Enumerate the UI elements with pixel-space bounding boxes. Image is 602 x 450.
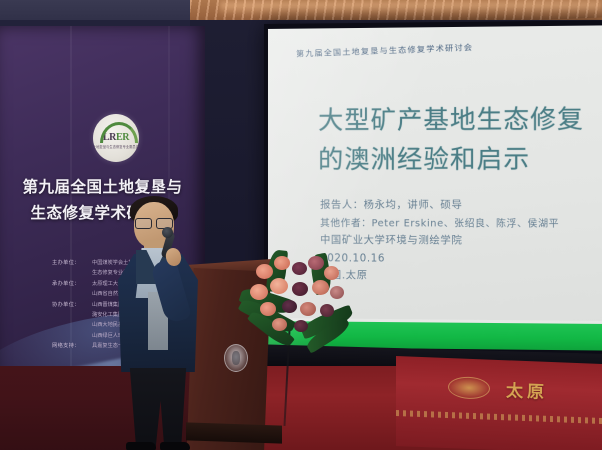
speaker-trousers xyxy=(126,368,190,450)
flower xyxy=(308,256,324,270)
flower xyxy=(272,318,287,331)
slide-header: 第九届全国土地复垦与生态修复学术研讨会 xyxy=(296,38,582,60)
slide-meta-location: 中国.太原 xyxy=(320,267,602,286)
flower xyxy=(260,302,276,316)
flower xyxy=(320,304,334,317)
flower xyxy=(250,284,268,300)
slide-meta-coauthors: 其他作者：Peter Erskine、张绍良、陈浮、侯湖平 xyxy=(320,215,602,233)
sponsor-key: 网络支持： xyxy=(52,341,86,351)
table-characters: 太原 xyxy=(506,376,548,403)
flower xyxy=(270,278,288,294)
speaker-shoe-left xyxy=(126,442,156,450)
table-trim xyxy=(396,410,602,424)
microphone-head-icon xyxy=(162,227,173,238)
slide-meta-presenter: 报告人：杨永均，讲师、硕导 xyxy=(320,197,602,215)
glasses-icon xyxy=(134,218,174,227)
lrer-logo: LRER 土地复垦与生态修复专业委员会 xyxy=(93,114,139,162)
slide-title-line-1: 大型矿产基地生态修复 xyxy=(318,99,602,140)
slide-title-line-2: 的澳洲经验和启示 xyxy=(318,139,602,179)
flower xyxy=(292,262,307,275)
draped-table: 太原 xyxy=(396,356,602,450)
speaker-shoe-right xyxy=(160,442,190,450)
table-emblem-icon xyxy=(448,376,490,400)
slide-meta-date: 2020.10.16 xyxy=(320,250,602,269)
flower xyxy=(294,320,308,332)
flower xyxy=(274,256,290,270)
sponsor-key: 承办单位： xyxy=(52,279,86,300)
slide-meta-affiliation: 中国矿业大学环境与测绘学院 xyxy=(320,232,602,251)
flower xyxy=(282,300,297,313)
floral-arrangement xyxy=(238,246,358,356)
ceiling-light-glow xyxy=(220,2,602,16)
speaker xyxy=(96,196,224,450)
slide-title: 大型矿产基地生态修复 的澳洲经验和启示 xyxy=(318,99,602,179)
flower xyxy=(292,282,308,296)
flower xyxy=(330,286,344,299)
logo-arc-icon xyxy=(100,122,138,143)
logo-subtitle: 土地复垦与生态修复专业委员会 xyxy=(93,144,139,149)
flower xyxy=(312,280,329,295)
photo-scene: LRER 土地复垦与生态修复专业委员会 第九届全国土地复垦与 生态修复学术研讨会… xyxy=(0,0,602,450)
flower xyxy=(256,264,273,279)
flower xyxy=(300,302,316,316)
slide-meta: 报告人：杨永均，讲师、硕导 其他作者：Peter Erskine、张绍良、陈浮、… xyxy=(320,197,602,287)
sponsor-key: 协办单位： xyxy=(52,300,86,342)
sponsor-key: 主办单位： xyxy=(52,258,86,279)
flower xyxy=(324,266,339,280)
